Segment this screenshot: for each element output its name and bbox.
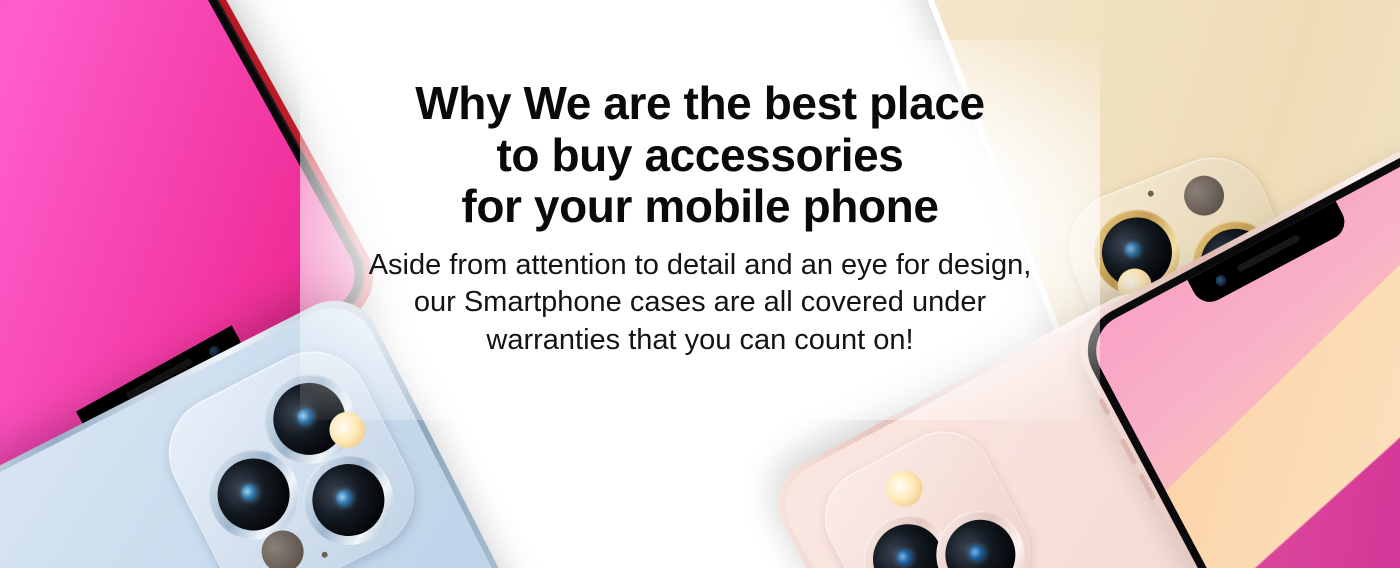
page-title: Why We are the best place to buy accesso… [330,78,1070,233]
subcopy-line-2: our Smartphone cases are all covered und… [330,284,1070,322]
front-camera-icon [1214,273,1229,288]
headline-line-2: to buy accessories [330,130,1070,182]
banner-copy: Why We are the best place to buy accesso… [330,78,1070,360]
true-tone-flash-icon [880,464,929,513]
lidar-sensor-icon [1178,170,1230,222]
headline-line-3: for your mobile phone [330,181,1070,233]
microphone-icon [321,551,329,559]
subcopy-line-3: warranties that you can count on! [330,322,1070,360]
microphone-icon [1147,190,1155,198]
camera-module [807,414,1048,568]
headline-line-1: Why We are the best place [330,78,1070,130]
promo-banner: Why We are the best place to buy accesso… [0,0,1400,568]
subcopy: Aside from attention to detail and an ey… [330,247,1070,360]
subcopy-line-1: Aside from attention to detail and an ey… [330,247,1070,285]
